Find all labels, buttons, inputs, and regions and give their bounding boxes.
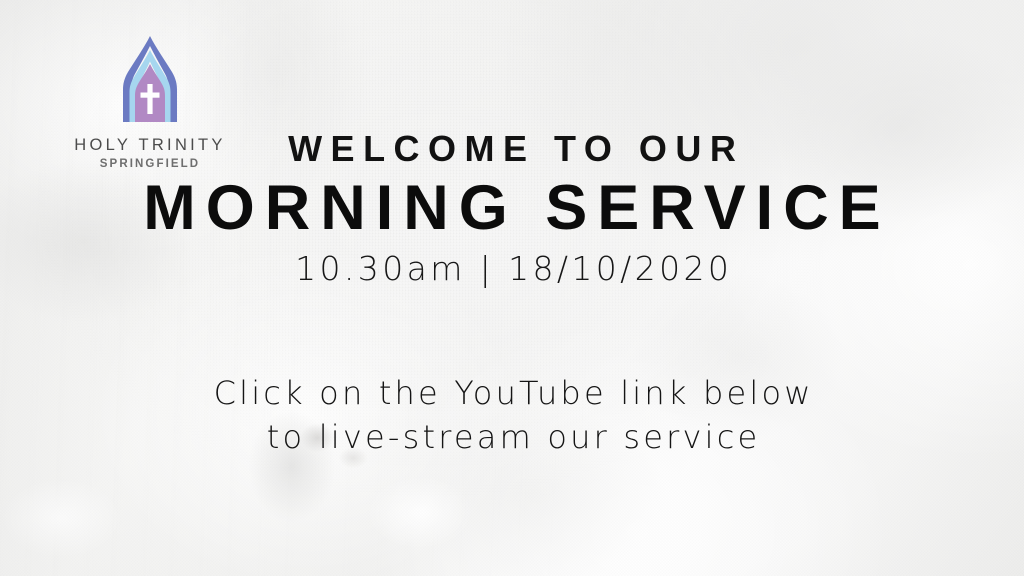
instruction-line-2: to live-stream our service [0, 418, 1024, 456]
service-datetime: 10.30am | 18/10/2020 [0, 249, 1024, 288]
welcome-kicker: WELCOME TO OUR [0, 128, 1024, 170]
church-arch-cross-icon [114, 34, 186, 128]
instruction-line-1: Click on the YouTube link below [0, 374, 1024, 412]
service-title: MORNING SERVICE [0, 172, 1024, 244]
service-announcement-slide: HOLY TRINITY SPRINGFIELD WELCOME TO OUR … [0, 0, 1024, 576]
